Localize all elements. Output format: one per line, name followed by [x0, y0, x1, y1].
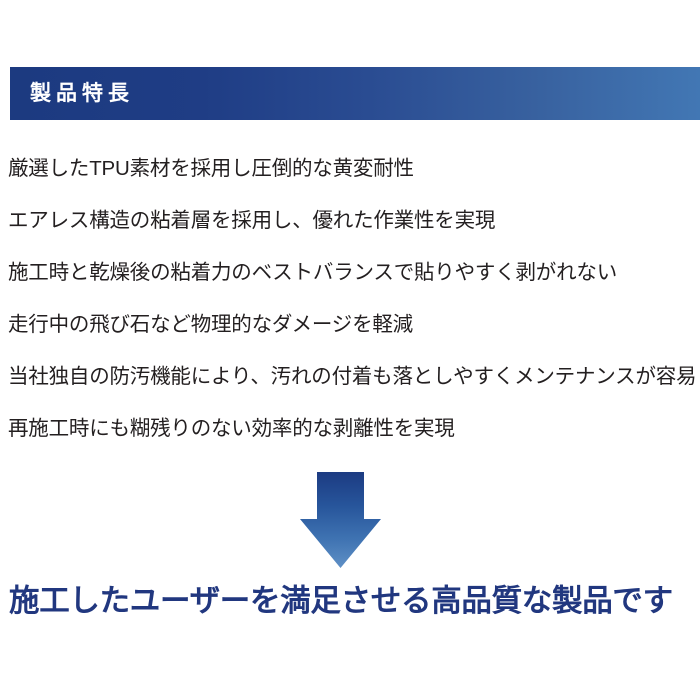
feature-item: 厳選したTPU素材を採用し圧倒的な黄変耐性	[8, 143, 700, 195]
feature-item-text: 走行中の飛び石など物理的なダメージを軽減	[8, 315, 413, 336]
feature-item: 再施工時にも糊残りのない効率的な剥離性を実現	[8, 403, 700, 455]
conclusion-headline: 施工したユーザーを満足させる高品質な製品です	[9, 585, 699, 619]
feature-item: エアレス構造の粘着層を採用し、優れた作業性を実現	[8, 195, 700, 247]
feature-item-text: 再施工時にも糊残りのない効率的な剥離性を実現	[8, 419, 455, 440]
feature-item-text: 施工時と乾燥後の粘着力のベストバランスで貼りやすく剥がれない	[8, 263, 617, 284]
feature-item: 施工時と乾燥後の粘着力のベストバランスで貼りやすく剥がれない	[8, 247, 700, 299]
section-header-bar: 製品特長	[10, 67, 700, 120]
feature-item-text: 当社独自の防汚機能により、汚れの付着も落としやすくメンテナンスが容易	[8, 367, 696, 388]
arrow-down-icon	[297, 470, 402, 572]
feature-list: 厳選したTPU素材を採用し圧倒的な黄変耐性 エアレス構造の粘着層を採用し、優れた…	[8, 143, 700, 455]
section-header-title: 製品特長	[30, 83, 134, 104]
feature-item-text: 厳選したTPU素材を採用し圧倒的な黄変耐性	[8, 159, 414, 180]
feature-item: 当社独自の防汚機能により、汚れの付着も落としやすくメンテナンスが容易	[8, 351, 700, 403]
feature-item: 走行中の飛び石など物理的なダメージを軽減	[8, 299, 700, 351]
feature-item-text: エアレス構造の粘着層を採用し、優れた作業性を実現	[8, 211, 495, 232]
product-features-page: 製品特長 厳選したTPU素材を採用し圧倒的な黄変耐性 エアレス構造の粘着層を採用…	[0, 0, 700, 700]
